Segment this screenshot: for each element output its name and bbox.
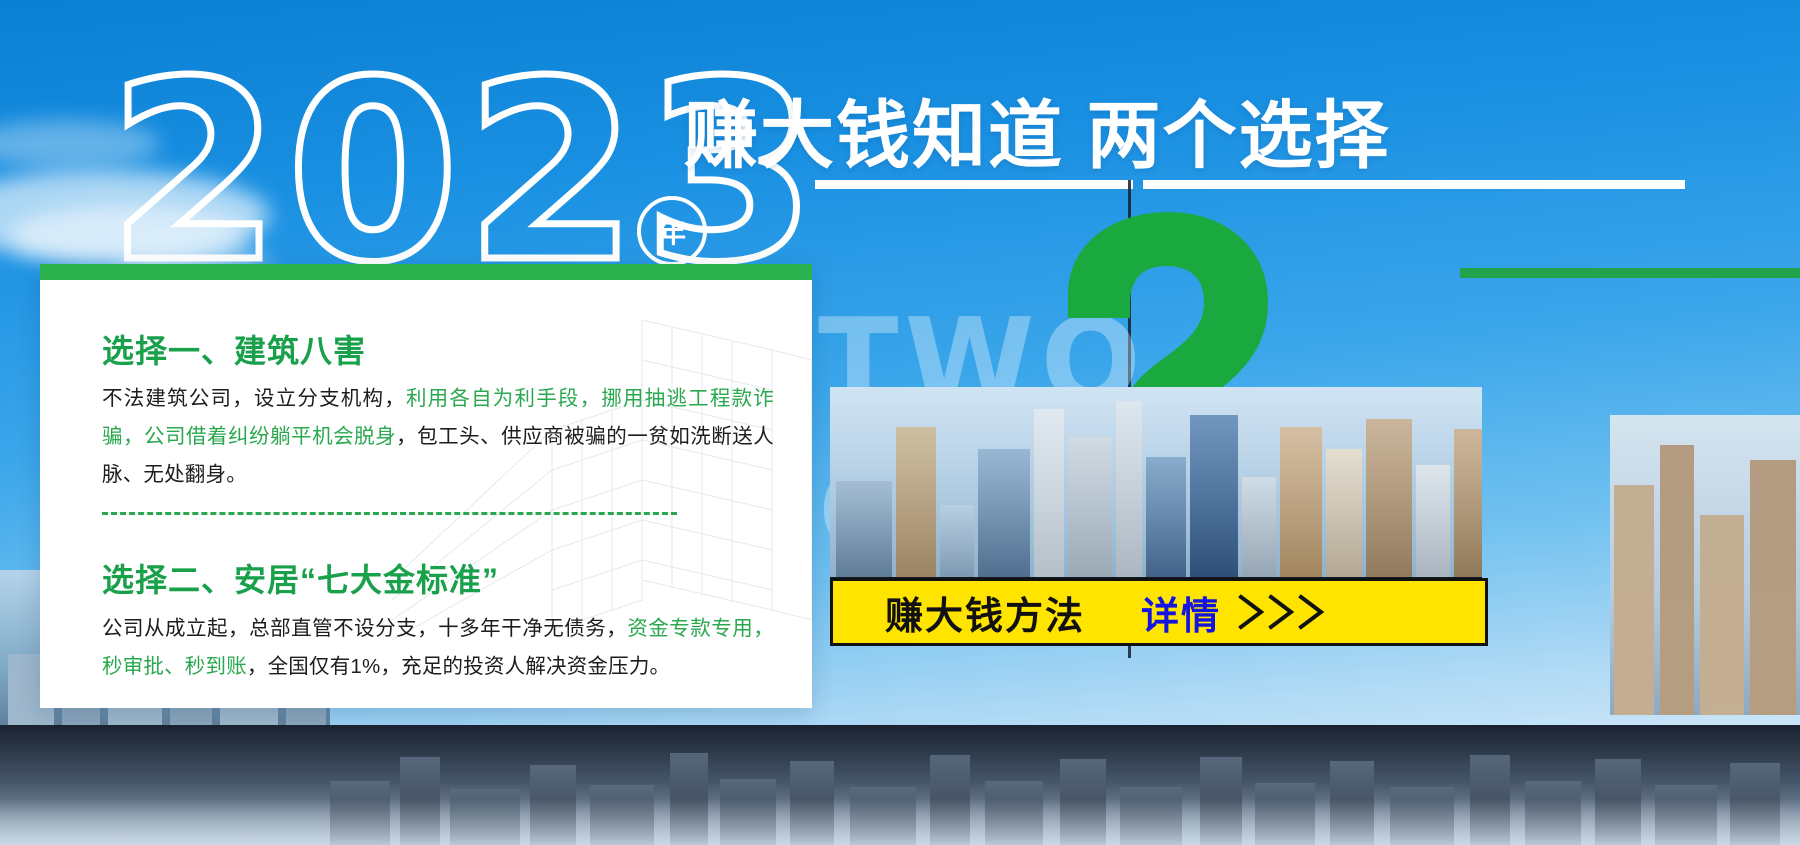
dashed-divider — [102, 512, 677, 515]
section-2-paragraph: 公司从成立起，总部直管不设分支，十多年干净无债务，资金专款专用，秒审批、秒到账，… — [102, 610, 774, 686]
headline-title: 赚大钱知道 两个选择 — [684, 76, 1754, 166]
s2-text-c: ，全国仅有1%，充足的投资人解决资金压力。 — [247, 655, 670, 678]
right-building-photo — [1610, 415, 1800, 715]
poster-root: 2023 年 赚大钱知道 两个选择 — [0, 0, 1800, 845]
bottom-photo-strip — [0, 725, 1800, 845]
green-accent-band — [1460, 268, 1800, 278]
section-1-paragraph: 不法建筑公司，设立分支机构，利用各自为利手段，挪用抽逃工程款诈骗，公司借着纠纷躺… — [102, 380, 774, 494]
cta-label: 赚大钱方法 — [885, 585, 1085, 640]
right-panel: TWO CHOICES 赚大钱方法 详情 — [812, 180, 1482, 658]
section-2-title: 选择二、安居“七大金标准” — [102, 555, 499, 601]
cta-details-link[interactable]: 详情 — [1141, 585, 1221, 640]
section-1-title: 选择一、建筑八害 — [102, 326, 366, 372]
s1-text-a: 不法建筑公司，设立分支机构， — [102, 387, 406, 410]
city-skyline-photo — [830, 387, 1482, 580]
cta-bar[interactable]: 赚大钱方法 详情 — [830, 578, 1488, 646]
year-unit-badge: 年 — [637, 196, 707, 266]
s2-text-a: 公司从成立起，总部直管不设分支，十多年干净无债务， — [102, 617, 627, 640]
content-card: 选择一、建筑八害 不法建筑公司，设立分支机构，利用各自为利手段，挪用抽逃工程款诈… — [40, 264, 812, 708]
card-body: 选择一、建筑八害 不法建筑公司，设立分支机构，利用各自为利手段，挪用抽逃工程款诈… — [40, 280, 812, 708]
card-top-green-bar — [40, 264, 812, 280]
chevrons-right-icon — [1235, 591, 1331, 633]
